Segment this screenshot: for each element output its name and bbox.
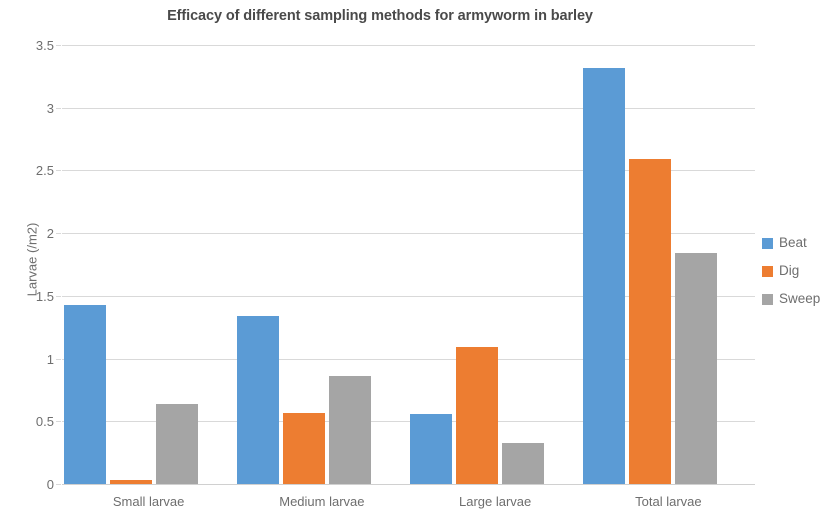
gridline [62, 108, 755, 109]
y-tick-label: 3 [8, 102, 54, 115]
legend-item-dig[interactable]: Dig [762, 257, 833, 285]
y-tick-mark [56, 296, 61, 297]
bar-beat-small-larvae [64, 305, 106, 484]
legend-swatch-icon [762, 266, 773, 277]
bar-beat-large-larvae [410, 414, 452, 484]
x-tick-label: Medium larvae [262, 494, 382, 509]
y-tick-mark [56, 484, 61, 485]
bar-sweep-medium-larvae [329, 376, 371, 484]
y-tick-label: 3.5 [8, 39, 54, 52]
y-tick-label: 1 [8, 353, 54, 366]
gridline [62, 45, 755, 46]
legend-label: Sweep [779, 292, 820, 306]
legend-item-sweep[interactable]: Sweep [762, 285, 833, 313]
bar-dig-large-larvae [456, 347, 498, 484]
gridline [62, 484, 755, 485]
y-tick-mark [56, 233, 61, 234]
bar-dig-total-larvae [629, 159, 671, 484]
bar-beat-medium-larvae [237, 316, 279, 484]
y-tick-mark [56, 421, 61, 422]
legend-label: Dig [779, 264, 799, 278]
y-tick-label: 2 [8, 227, 54, 240]
y-tick-mark [56, 45, 61, 46]
legend-swatch-icon [762, 294, 773, 305]
bar-sweep-large-larvae [502, 443, 544, 484]
bar-dig-small-larvae [110, 480, 152, 484]
bar-sweep-small-larvae [156, 404, 198, 484]
bar-beat-total-larvae [583, 68, 625, 484]
y-tick-mark [56, 108, 61, 109]
legend-swatch-icon [762, 238, 773, 249]
y-axis-title: Larvae (/m2) [25, 190, 40, 330]
x-tick-label: Total larvae [608, 494, 728, 509]
y-tick-label: 1.5 [8, 290, 54, 303]
legend-item-beat[interactable]: Beat [762, 229, 833, 257]
bar-chart: Efficacy of different sampling methods f… [0, 0, 833, 515]
legend-label: Beat [779, 236, 807, 250]
x-tick-label: Small larvae [89, 494, 209, 509]
y-tick-mark [56, 170, 61, 171]
chart-legend: BeatDigSweep [762, 229, 833, 313]
y-tick-label: 0 [8, 478, 54, 491]
bar-sweep-total-larvae [675, 253, 717, 484]
plot-area [62, 45, 755, 484]
y-tick-label: 2.5 [8, 164, 54, 177]
y-tick-label: 0.5 [8, 415, 54, 428]
y-tick-mark [56, 359, 61, 360]
bar-dig-medium-larvae [283, 413, 325, 484]
chart-title: Efficacy of different sampling methods f… [0, 8, 760, 24]
x-tick-label: Large larvae [435, 494, 555, 509]
